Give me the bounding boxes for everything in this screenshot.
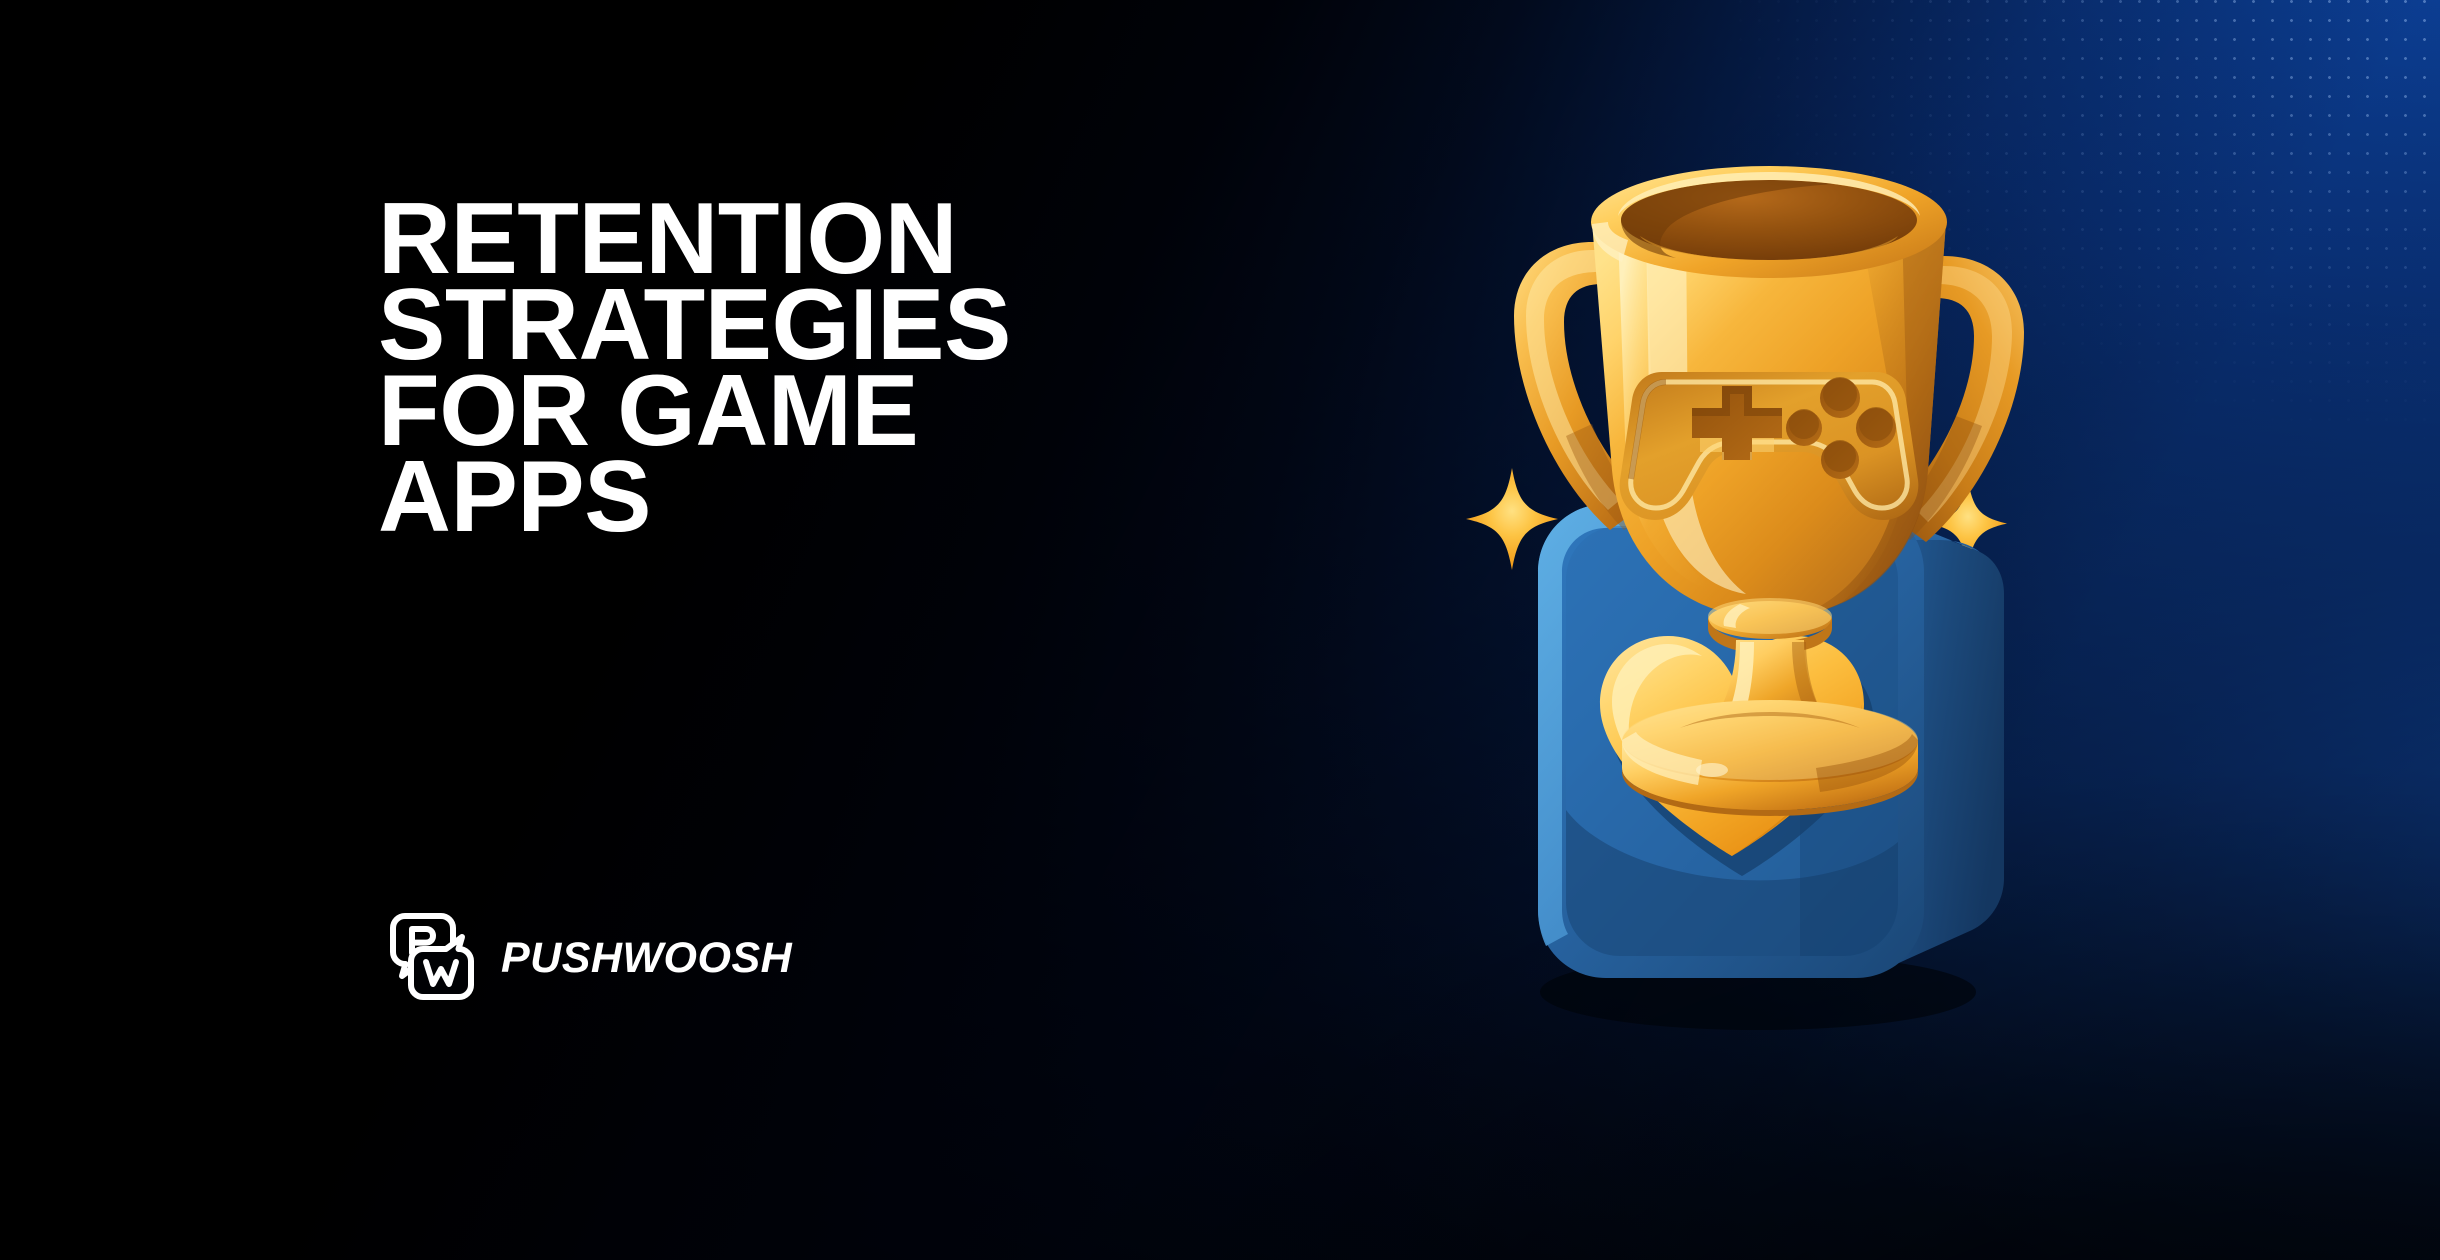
- trophy-base: [1622, 700, 1918, 816]
- banner-root: RETENTION STRATEGIES FOR GAME APPS PUSHW…: [0, 0, 2440, 1260]
- pushwoosh-logo[interactable]: PUSHWOOSH: [385, 912, 792, 1004]
- trophy-illustration: [1440, 120, 2100, 1040]
- trophy-rim: [1591, 166, 1947, 278]
- page-title: RETENTION STRATEGIES FOR GAME APPS: [378, 196, 1378, 540]
- pushwoosh-wordmark: PUSHWOOSH: [501, 937, 792, 980]
- pushwoosh-bubbles-icon: [385, 912, 479, 1004]
